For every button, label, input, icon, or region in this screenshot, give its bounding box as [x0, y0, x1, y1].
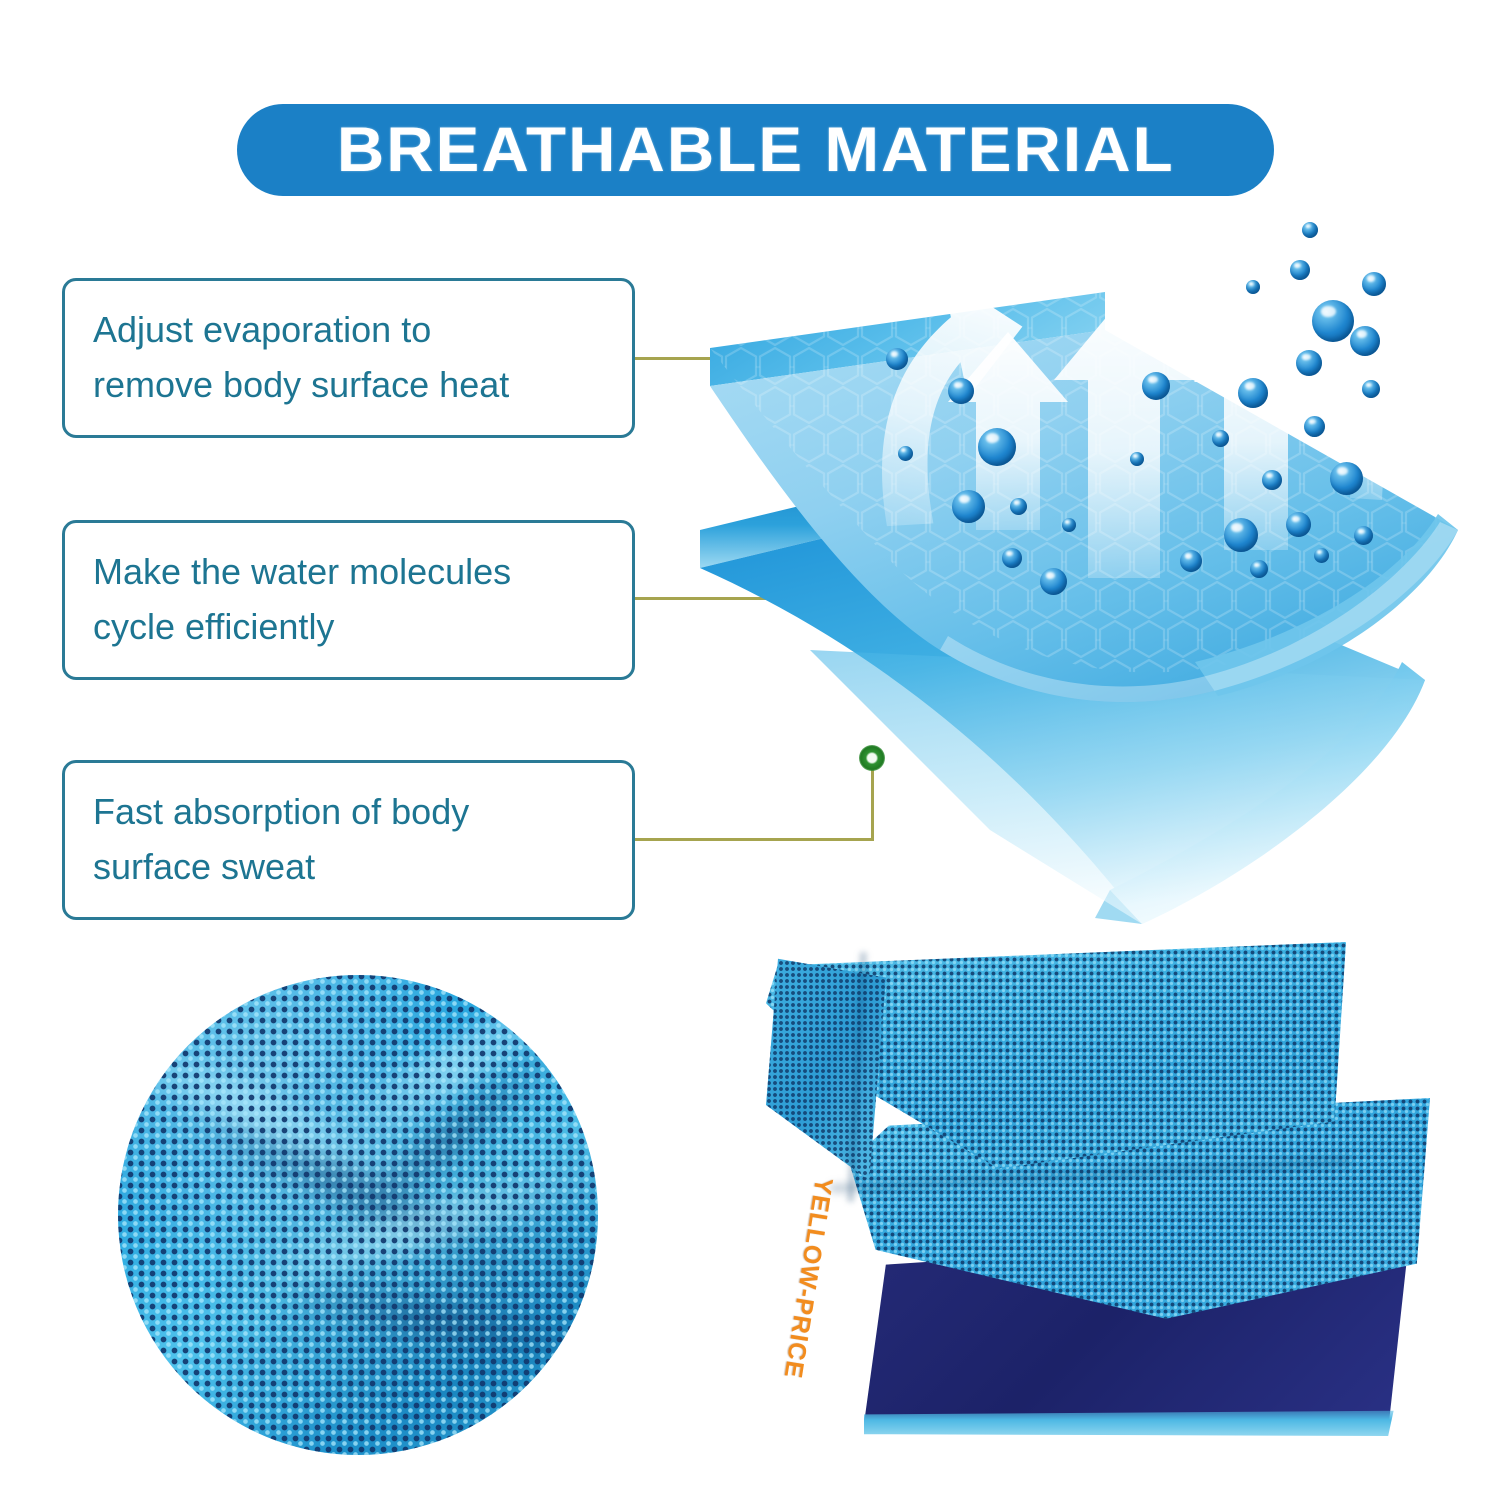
- vapour-bubble: [952, 490, 985, 523]
- vapour-bubble: [1238, 378, 1268, 408]
- callout-box-absorption: Fast absorption of body surface sweat: [62, 760, 635, 920]
- vapour-bubble: [1130, 452, 1144, 466]
- vapour-bubble: [1312, 300, 1354, 342]
- callout-line-1: Fast absorption of body: [93, 791, 469, 832]
- vapour-bubble: [1286, 512, 1311, 537]
- vapour-bubble: [1040, 568, 1067, 595]
- vapour-bubble: [978, 428, 1016, 466]
- fabric-layers-illustration: [690, 230, 1490, 950]
- towel-left-flap: [766, 954, 886, 1190]
- vapour-bubble: [1314, 548, 1329, 563]
- vapour-bubble: [1002, 548, 1022, 568]
- folded-cooling-towel-photo: YELLOW-PRICE: [760, 930, 1440, 1470]
- vapour-bubble: [1062, 518, 1076, 532]
- callout-box-evaporation: Adjust evaporation to remove body surfac…: [62, 278, 635, 438]
- page-title: BREATHABLE MATERIAL: [337, 114, 1175, 186]
- callout-text: Make the water molecules cycle efficient…: [93, 545, 511, 654]
- callout-line-2: remove body surface heat: [93, 364, 509, 405]
- mesh-fabric-closeup: [118, 975, 598, 1455]
- callout-box-water-cycle: Make the water molecules cycle efficient…: [62, 520, 635, 680]
- fabric-mesh-highlights: [118, 975, 598, 1455]
- vapour-bubble: [1246, 280, 1260, 294]
- vapour-bubble: [1290, 260, 1310, 280]
- vapour-bubble: [1330, 462, 1363, 495]
- vapour-bubble: [1354, 526, 1373, 545]
- vapour-bubble: [898, 446, 913, 461]
- towel-brand-label: YELLOW-PRICE: [778, 1175, 838, 1380]
- vapour-bubble: [1350, 326, 1380, 356]
- vapour-bubble: [1304, 416, 1325, 437]
- page-title-banner: BREATHABLE MATERIAL: [237, 104, 1274, 196]
- vapour-bubble: [1362, 380, 1380, 398]
- vapour-bubble: [1250, 560, 1268, 578]
- vapour-bubble: [1302, 222, 1318, 238]
- callout-text: Adjust evaporation to remove body surfac…: [93, 303, 509, 412]
- vapour-bubble: [1212, 430, 1229, 447]
- vapour-bubble: [1362, 272, 1386, 296]
- callout-text: Fast absorption of body surface sweat: [93, 785, 469, 894]
- callout-line-1: Adjust evaporation to: [93, 309, 431, 350]
- vapour-bubble: [1224, 518, 1258, 552]
- callout-line-2: surface sweat: [93, 846, 315, 887]
- vapour-bubble: [1142, 372, 1170, 400]
- vapour-bubble: [1180, 550, 1202, 572]
- vapour-bubble: [948, 378, 974, 404]
- vapour-bubble: [1010, 498, 1027, 515]
- vapour-bubble: [886, 348, 908, 370]
- towel-flap-mesh-dots: [766, 954, 886, 1190]
- infographic-canvas: BREATHABLE MATERIAL Adjust evaporation t…: [0, 0, 1500, 1500]
- callout-line-1: Make the water molecules: [93, 551, 511, 592]
- vapour-bubble: [1296, 350, 1322, 376]
- callout-line-2: cycle efficiently: [93, 606, 334, 647]
- vapour-bubble: [1262, 470, 1282, 490]
